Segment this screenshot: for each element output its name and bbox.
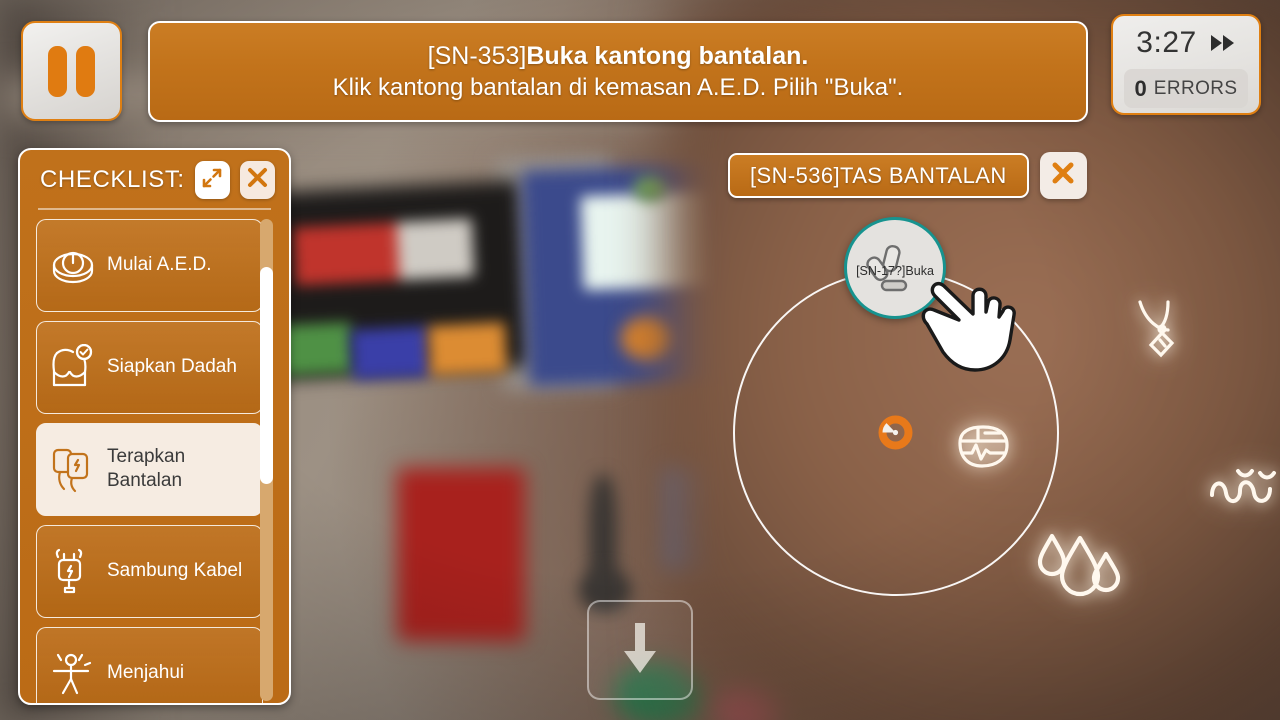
radial-menu-title-prefix: [SN-536]	[750, 163, 840, 189]
bare-chest-check-icon	[47, 341, 99, 393]
checklist-scrollbar-thumb[interactable]	[260, 267, 273, 484]
checklist-title: CHECKLIST:	[40, 166, 185, 194]
necklace-icon[interactable]	[1134, 296, 1196, 358]
defib-pads-icon	[47, 443, 99, 495]
instruction-detail: Klik kantong bantalan di kemasan A.E.D. …	[333, 72, 904, 103]
checklist-item-terapkan-bantalan[interactable]: Terapkan Bantalan	[36, 423, 263, 516]
checklist-panel: CHECKLIST:	[18, 148, 291, 705]
errors-display: 0 ERRORS	[1124, 69, 1248, 108]
fast-forward-icon[interactable]	[1210, 34, 1236, 52]
checklist-item-label: Siapkan Dadah	[107, 355, 237, 379]
radial-center-icon	[878, 415, 913, 450]
instruction-prefix: [SN-353]	[428, 42, 527, 70]
stand-clear-icon	[47, 647, 99, 699]
errors-count: 0	[1135, 76, 1147, 102]
checklist-close-button[interactable]	[240, 161, 275, 199]
chest-hair-icon[interactable]	[1208, 455, 1280, 507]
pause-icon	[48, 46, 67, 97]
checklist-item-label: Sambung Kabel	[107, 559, 242, 583]
pause-icon	[76, 46, 95, 97]
instruction-title: Buka kantong bantalan.	[526, 42, 808, 70]
checklist-item-sambung-kabel[interactable]: Sambung Kabel	[36, 525, 263, 618]
checklist-item-menjahui[interactable]: Menjahui	[36, 627, 263, 706]
timer-panel: 3:27 0 ERRORS	[1111, 14, 1261, 115]
checklist-divider	[38, 208, 271, 210]
checklist-item-label: Menjahui	[107, 661, 184, 685]
checklist-item-siapkan-dadah[interactable]: Siapkan Dadah	[36, 321, 263, 414]
expand-icon	[201, 167, 223, 194]
timer-value: 3:27	[1136, 26, 1196, 60]
plug-cable-icon	[47, 545, 99, 597]
aed-device-icon[interactable]	[952, 417, 1014, 473]
close-icon	[1051, 161, 1075, 190]
radial-menu-header: [SN-536]TAS BANTALAN	[728, 152, 1087, 199]
pause-button[interactable]	[21, 21, 122, 121]
close-icon	[247, 167, 268, 193]
errors-label: ERRORS	[1154, 78, 1238, 100]
radial-menu-title: TAS BANTALAN	[840, 163, 1007, 189]
checklist-expand-button[interactable]	[195, 161, 230, 199]
radial-menu-close-button[interactable]	[1040, 152, 1087, 199]
checklist-item-mulai-aed[interactable]: Mulai A.E.D.	[36, 219, 263, 312]
water-droplets-icon[interactable]	[1030, 528, 1126, 604]
power-button-icon	[47, 239, 99, 291]
instruction-title-line: [SN-353]Buka kantong bantalan.	[428, 41, 809, 72]
pointing-hand-cursor	[915, 262, 1025, 382]
checklist-item-label: Terapkan Bantalan	[107, 445, 254, 493]
arrow-down-icon	[617, 619, 663, 682]
checklist-scrollbar-track[interactable]	[260, 219, 273, 701]
instruction-banner: [SN-353]Buka kantong bantalan. Klik kant…	[148, 21, 1088, 122]
scroll-down-button[interactable]	[587, 600, 693, 700]
radial-menu-title-bar: [SN-536]TAS BANTALAN	[728, 153, 1029, 198]
checklist-item-label: Mulai A.E.D.	[107, 253, 212, 277]
